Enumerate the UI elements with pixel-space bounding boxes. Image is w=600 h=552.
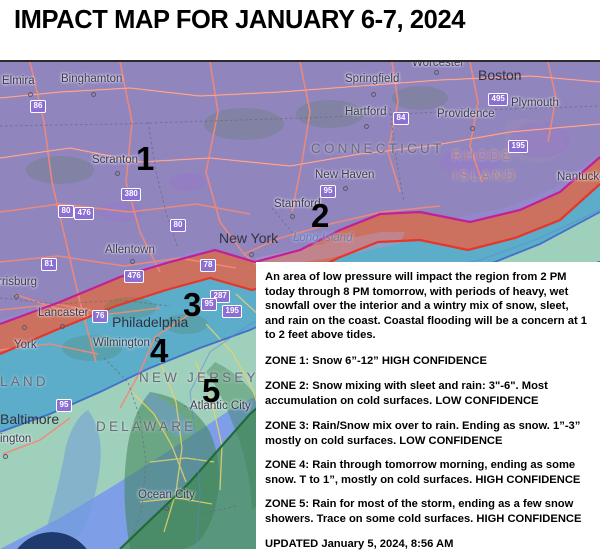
zone-number-4: 4 (150, 334, 168, 367)
city-dot-new-haven (343, 186, 348, 191)
city-dot-scranton (115, 171, 120, 176)
zone-2-description: ZONE 2: Snow mixing with sleet and rain:… (265, 379, 591, 408)
highway-shield-icon: 476 (124, 270, 144, 283)
zone-3-description: ZONE 3: Rain/Snow mix over to rain. Endi… (265, 419, 591, 448)
zone-number-2: 2 (311, 199, 329, 232)
highway-shield-icon: 80 (58, 205, 74, 218)
page-title: IMPACT MAP FOR JANUARY 6-7, 2024 (0, 0, 465, 35)
highway-shield-icon: 476 (74, 207, 94, 220)
city-dot-worcester (434, 70, 439, 75)
zone-1-description: ZONE 1: Snow 6”-12” HIGH CONFIDENCE (265, 354, 591, 369)
city-dot-allentown (130, 259, 135, 264)
city-dot-new-york (249, 252, 254, 257)
highway-shield-icon: 78 (200, 259, 216, 272)
city-dot-york (22, 325, 27, 330)
highway-shield-icon: 495 (488, 93, 508, 106)
forecast-summary: An area of low pressure will impact the … (265, 270, 591, 343)
city-dot-springfield (371, 92, 376, 97)
zone-number-1: 1 (136, 142, 154, 175)
zone-number-3: 3 (183, 288, 201, 321)
city-dot-hartford (364, 124, 369, 129)
forecast-text-panel: An area of low pressure will impact the … (256, 262, 600, 549)
highway-shield-icon: 80 (170, 219, 186, 232)
city-dot-elmira (28, 92, 33, 97)
header-banner: IMPACT MAP FOR JANUARY 6-7, 2024 (0, 0, 600, 62)
highway-shield-icon: 86 (30, 100, 46, 113)
city-dot-lancaster (60, 324, 65, 329)
city-dot-ocean-city (164, 506, 169, 511)
highway-shield-icon: 95 (56, 399, 72, 412)
highway-shield-icon: 195 (508, 140, 528, 153)
zone-4-description: ZONE 4: Rain through tomorrow morning, e… (265, 458, 591, 487)
zone-5-description: ZONE 5: Rain for most of the storm, endi… (265, 497, 591, 526)
weather-station-logo (8, 532, 96, 549)
zone-number-5: 5 (202, 374, 220, 407)
highway-shield-icon: 195 (222, 305, 242, 318)
city-dot-binghamton (91, 92, 96, 97)
city-dot-stamford (290, 214, 295, 219)
highway-shield-icon: 95 (201, 298, 217, 311)
highway-shield-icon: 380 (121, 188, 141, 201)
city-dot-washington (3, 454, 8, 459)
highway-shield-icon: 76 (92, 310, 108, 323)
city-dot-providence (470, 126, 475, 131)
city-dot-harrisburg (14, 294, 19, 299)
highway-shield-icon: 81 (41, 258, 57, 271)
highway-shield-icon: 84 (393, 112, 409, 125)
updated-timestamp: UPDATED January 5, 2024, 8:56 AM (265, 537, 591, 552)
